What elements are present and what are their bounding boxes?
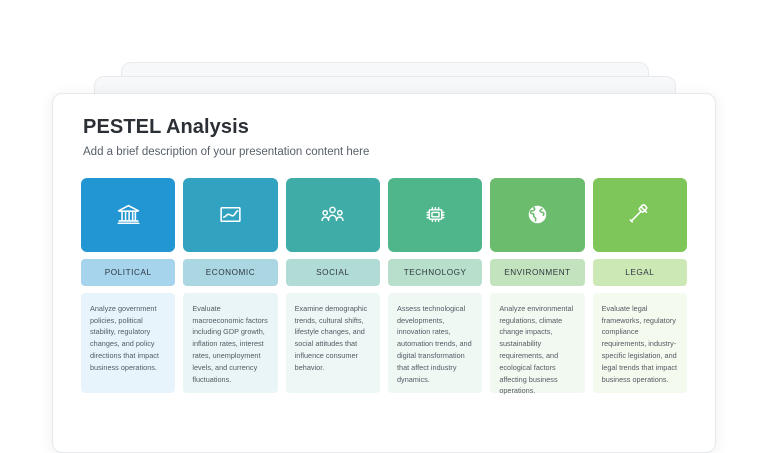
body-text-technology: Assess technological developments, innov… [397,303,473,386]
line-chart-icon [218,202,243,227]
label-bar-technology: TECHNOLOGY [388,259,482,286]
icon-tile-legal[interactable] [593,178,687,252]
label-text-social: SOCIAL [316,268,349,277]
page-subtitle: Add a brief description of your presenta… [83,146,715,160]
label-bar-legal: LEGAL [593,259,687,286]
body-text-political: Analyze government policies, political s… [90,303,166,374]
microchip-icon [423,202,448,227]
pestel-column-social[interactable]: SOCIAL Examine demographic trends, cultu… [286,178,380,393]
icon-tile-environment[interactable] [490,178,584,252]
pestel-column-legal[interactable]: LEGAL Evaluate legal frameworks, regulat… [593,178,687,393]
icon-tile-political[interactable] [81,178,175,252]
slide-header: PESTEL Analysis Add a brief description … [53,94,715,160]
gavel-icon [627,202,652,227]
body-panel-technology: Assess technological developments, innov… [388,293,482,393]
people-group-icon [320,202,345,227]
body-panel-economic: Evaluate macroeconomic factors including… [183,293,277,393]
pestel-column-economic[interactable]: ECONOMIC Evaluate macroeconomic factors … [183,178,277,393]
icon-tile-economic[interactable] [183,178,277,252]
icon-tile-social[interactable] [286,178,380,252]
pestel-column-technology[interactable]: TECHNOLOGY Assess technological developm… [388,178,482,393]
icon-tile-technology[interactable] [388,178,482,252]
body-panel-legal: Evaluate legal frameworks, regulatory co… [593,293,687,393]
label-bar-economic: ECONOMIC [183,259,277,286]
label-text-economic: ECONOMIC [206,268,255,277]
body-text-social: Examine demographic trends, cultural shi… [295,303,371,374]
label-text-political: POLITICAL [105,268,152,277]
label-text-technology: TECHNOLOGY [404,268,467,277]
pestel-column-environment[interactable]: ENVIRONMENT Analyze environmental regula… [490,178,584,393]
body-panel-environment: Analyze environmental regulations, clima… [490,293,584,393]
body-panel-political: Analyze government policies, political s… [81,293,175,393]
label-bar-environment: ENVIRONMENT [490,259,584,286]
label-text-environment: ENVIRONMENT [504,268,571,277]
body-panel-social: Examine demographic trends, cultural shi… [286,293,380,393]
page-title: PESTEL Analysis [83,116,715,139]
body-text-legal: Evaluate legal frameworks, regulatory co… [602,303,678,386]
bank-building-icon [116,202,141,227]
label-bar-social: SOCIAL [286,259,380,286]
label-bar-political: POLITICAL [81,259,175,286]
globe-icon [525,202,550,227]
pestel-columns: POLITICAL Analyze government policies, p… [53,160,715,393]
body-text-economic: Evaluate macroeconomic factors including… [192,303,268,386]
pestel-column-political[interactable]: POLITICAL Analyze government policies, p… [81,178,175,393]
label-text-legal: LEGAL [625,268,654,277]
slide-canvas: PESTEL Analysis Add a brief description … [52,93,716,453]
body-text-environment: Analyze environmental regulations, clima… [499,303,575,398]
